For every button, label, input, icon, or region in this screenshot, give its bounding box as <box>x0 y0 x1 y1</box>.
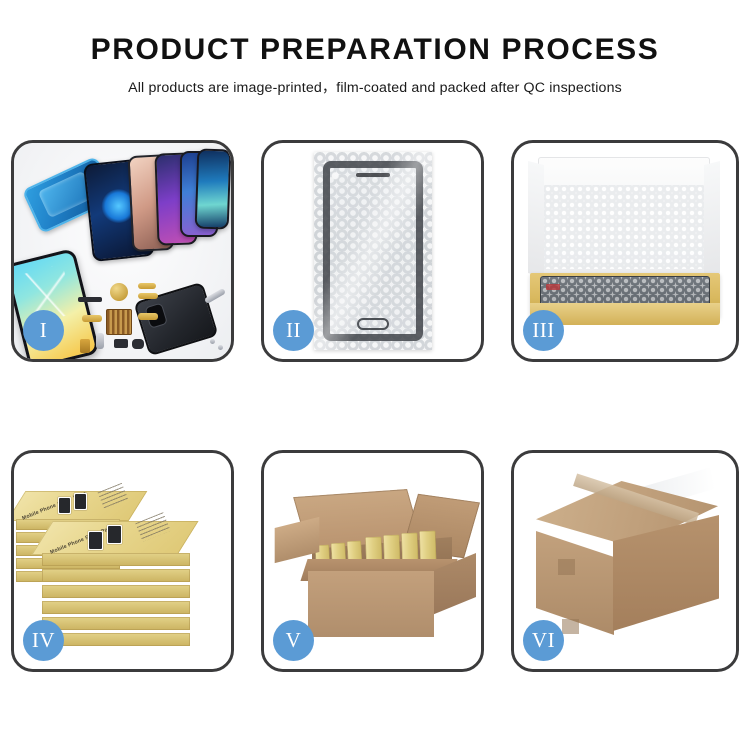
earpiece-slot <box>356 173 390 177</box>
step-panel-5[interactable]: V <box>261 450 484 672</box>
process-steps-grid: I II <box>11 140 739 672</box>
step-panel-3[interactable]: III <box>511 140 739 362</box>
wrapped-screen-in-box <box>540 276 710 306</box>
part-mesh-board <box>106 309 132 335</box>
step-1-image: I <box>14 143 231 359</box>
step-badge-2: II <box>273 310 314 351</box>
part-flex-cable-c <box>82 315 102 322</box>
carton-seam-tab-upper <box>558 559 575 575</box>
step-badge-6: VI <box>523 620 564 661</box>
step-2-image: II <box>264 143 481 359</box>
part-screw-a <box>210 339 215 344</box>
gold-box-front-edge-3 <box>42 585 190 598</box>
gold-box-front-edge-5 <box>42 617 190 630</box>
page-title: PRODUCT PREPARATION PROCESS <box>0 34 750 66</box>
part-metal-bracket <box>96 333 104 349</box>
part-screw-b <box>218 345 223 350</box>
step-5-image: V <box>264 453 481 669</box>
foam-padding <box>544 185 704 269</box>
box-thumb-front-b <box>107 525 122 544</box>
part-battery-cell <box>80 339 90 353</box>
page-header: PRODUCT PREPARATION PROCESS All products… <box>0 34 750 97</box>
step-badge-4: IV <box>23 620 64 661</box>
step-4-image: Mobile Phone Spare Parts Mobile Phone Sp… <box>14 453 231 669</box>
home-button-outline <box>357 318 389 330</box>
box-thumb-front-a <box>88 531 103 550</box>
part-speaker-coil <box>110 283 128 301</box>
part-connector-strip <box>78 297 102 302</box>
step-6-image: VI <box>514 453 736 669</box>
step-badge-5: V <box>273 620 314 661</box>
part-camera-module <box>114 339 128 348</box>
part-button-cap <box>132 339 144 349</box>
phone-teal-gradient <box>195 148 231 229</box>
step-panel-1[interactable]: I <box>11 140 234 362</box>
gold-box-front-edge-6 <box>42 633 190 646</box>
page-subtitle: All products are image-printed，film-coat… <box>0 77 750 97</box>
step-panel-4[interactable]: Mobile Phone Spare Parts Mobile Phone Sp… <box>11 450 234 672</box>
part-flex-cable-a <box>138 283 156 289</box>
box-thumb-back-a <box>58 497 71 514</box>
bubble-wrap-sheet <box>314 152 432 350</box>
step-badge-1: I <box>23 310 64 351</box>
phone-front-glass <box>323 161 423 341</box>
gold-box-front-edge-4 <box>42 601 190 614</box>
part-flex-cable-b <box>138 293 158 299</box>
gold-box-front-edge-1 <box>42 553 190 566</box>
carton-seam-tab-lower <box>562 619 579 634</box>
step-panel-6[interactable]: VI <box>511 450 739 672</box>
step-badge-3: III <box>523 310 564 351</box>
carton-front-face <box>308 571 434 637</box>
step-3-image: III <box>514 143 736 359</box>
part-flex-cable-d <box>138 313 158 320</box>
step-panel-2[interactable]: II <box>261 140 484 362</box>
gold-box-front-edge-2 <box>42 569 190 582</box>
box-thumb-back-b <box>74 493 87 510</box>
page-root: PRODUCT PREPARATION PROCESS All products… <box>0 0 750 750</box>
